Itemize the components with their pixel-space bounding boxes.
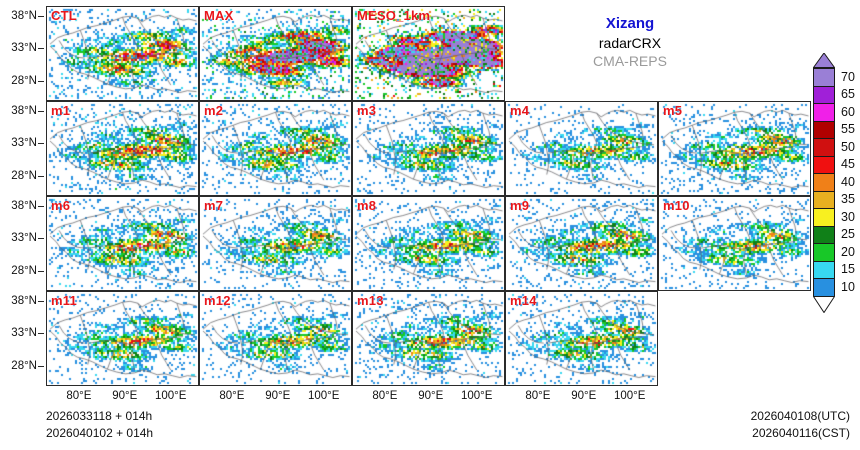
map-panel-max[interactable]: MAX bbox=[199, 6, 352, 101]
tick-mark bbox=[38, 271, 44, 272]
colorbar-tick-label: 20 bbox=[841, 245, 855, 259]
tick-mark bbox=[38, 48, 44, 49]
tick-mark bbox=[38, 81, 44, 82]
model-title: CMA-REPS bbox=[515, 52, 745, 70]
colorbar-tick-label: 10 bbox=[841, 280, 855, 294]
tick-mark bbox=[38, 366, 44, 367]
map-panel-m5[interactable]: m5 bbox=[658, 101, 811, 196]
y-axis-tick: 28°N bbox=[0, 360, 37, 372]
colorbar-segment bbox=[814, 69, 834, 87]
colorbar-segment bbox=[814, 209, 834, 227]
panel-title: m8 bbox=[357, 198, 376, 213]
tick-mark bbox=[38, 16, 44, 17]
tick-mark bbox=[38, 333, 44, 334]
map-panel-m13[interactable]: m13 bbox=[352, 291, 505, 386]
map-panel-m2[interactable]: m2 bbox=[199, 101, 352, 196]
x-axis-tick: 100°E bbox=[296, 390, 352, 402]
colorbar-tick-label: 45 bbox=[841, 157, 855, 171]
map-panel-m4[interactable]: m4 bbox=[505, 101, 658, 196]
colorbar-tick-label: 35 bbox=[841, 192, 855, 206]
tick-mark bbox=[38, 143, 44, 144]
colorbar-tick-label: 15 bbox=[841, 262, 855, 276]
colorbar-tick-label: 65 bbox=[841, 87, 855, 101]
colorbar-tick-label: 60 bbox=[841, 105, 855, 119]
radar-ensemble-figure: CTLMAXMESO_1kmm1m2m3m4m5m6m7m8m9m10m11m1… bbox=[0, 0, 860, 450]
colorbar-tick-label: 30 bbox=[841, 210, 855, 224]
region-title: Xizang bbox=[515, 14, 745, 34]
colorbar-tick-label: 70 bbox=[841, 70, 855, 84]
panel-title: m4 bbox=[510, 103, 529, 118]
tick-mark bbox=[38, 111, 44, 112]
y-axis-tick: 38°N bbox=[0, 295, 37, 307]
y-axis-tick: 28°N bbox=[0, 170, 37, 182]
colorbar-segment bbox=[814, 192, 834, 210]
colorbar-segment bbox=[814, 227, 834, 245]
colorbar-segment bbox=[814, 279, 834, 297]
y-axis-tick: 38°N bbox=[0, 105, 37, 117]
map-panel-m3[interactable]: m3 bbox=[352, 101, 505, 196]
map-panel-m8[interactable]: m8 bbox=[352, 196, 505, 291]
map-panel-ctl[interactable]: CTL bbox=[46, 6, 199, 101]
tick-mark bbox=[38, 176, 44, 177]
y-axis-tick: 33°N bbox=[0, 232, 37, 244]
colorbar-segment bbox=[814, 262, 834, 280]
colorbar-gradient bbox=[813, 68, 835, 296]
panel-title: m3 bbox=[357, 103, 376, 118]
colorbar-segment bbox=[814, 157, 834, 175]
colorbar-over-arrow bbox=[813, 53, 835, 68]
colorbar-under-arrow bbox=[813, 296, 835, 313]
tick-mark bbox=[38, 301, 44, 302]
y-axis-tick: 28°N bbox=[0, 265, 37, 277]
figure-title-block: XizangradarCRXCMA-REPS bbox=[515, 14, 745, 71]
panel-title: m10 bbox=[663, 198, 690, 213]
map-panel-m6[interactable]: m6 bbox=[46, 196, 199, 291]
y-axis-tick: 38°N bbox=[0, 10, 37, 22]
panel-title: m6 bbox=[51, 198, 70, 213]
panel-title: m9 bbox=[510, 198, 529, 213]
tick-mark bbox=[38, 238, 44, 239]
panel-title: m2 bbox=[204, 103, 223, 118]
panel-title: m12 bbox=[204, 293, 231, 308]
panel-title: CTL bbox=[51, 8, 77, 23]
panel-title: m7 bbox=[204, 198, 223, 213]
colorbar-segment bbox=[814, 139, 834, 157]
y-axis-tick: 33°N bbox=[0, 137, 37, 149]
panel-title: MESO_1km bbox=[357, 8, 430, 23]
map-panel-m9[interactable]: m9 bbox=[505, 196, 658, 291]
init-time-stamp-line2: 2026040102 + 014h bbox=[46, 425, 153, 442]
init-time-stamp: 2026033118 + 014h2026040102 + 014h bbox=[46, 408, 153, 443]
colorbar-tick-label: 55 bbox=[841, 122, 855, 136]
colorbar-segment bbox=[814, 122, 834, 140]
x-axis-tick: 100°E bbox=[143, 390, 199, 402]
panel-title: m5 bbox=[663, 103, 682, 118]
panel-title: m11 bbox=[51, 293, 77, 308]
colorbar-segment bbox=[814, 87, 834, 105]
x-axis-tick: 100°E bbox=[449, 390, 505, 402]
y-axis-tick: 38°N bbox=[0, 200, 37, 212]
colorbar-segment bbox=[814, 174, 834, 192]
map-panel-m12[interactable]: m12 bbox=[199, 291, 352, 386]
y-axis-tick: 28°N bbox=[0, 75, 37, 87]
panel-title: MAX bbox=[204, 8, 234, 23]
map-panel-m11[interactable]: m11 bbox=[46, 291, 199, 386]
panel-title: m13 bbox=[357, 293, 384, 308]
colorbar-tick-label: 25 bbox=[841, 227, 855, 241]
colorbar-legend: 70656055504540353025201510 bbox=[813, 0, 859, 450]
panel-title: m14 bbox=[510, 293, 537, 308]
y-axis-tick: 33°N bbox=[0, 327, 37, 339]
map-panel-m14[interactable]: m14 bbox=[505, 291, 658, 386]
panel-title: m1 bbox=[51, 103, 70, 118]
colorbar-tick-label: 40 bbox=[841, 175, 855, 189]
map-panel-meso_1km[interactable]: MESO_1km bbox=[352, 6, 505, 101]
y-axis-tick: 33°N bbox=[0, 42, 37, 54]
x-axis-tick: 100°E bbox=[602, 390, 658, 402]
init-time-stamp-line1: 2026033118 + 014h bbox=[46, 408, 153, 425]
colorbar-segment bbox=[814, 104, 834, 122]
variable-title: radarCRX bbox=[515, 34, 745, 52]
map-panel-m7[interactable]: m7 bbox=[199, 196, 352, 291]
map-panel-m10[interactable]: m10 bbox=[658, 196, 811, 291]
colorbar-segment bbox=[814, 244, 834, 262]
map-panel-m1[interactable]: m1 bbox=[46, 101, 199, 196]
tick-mark bbox=[38, 206, 44, 207]
colorbar-tick-label: 50 bbox=[841, 140, 855, 154]
